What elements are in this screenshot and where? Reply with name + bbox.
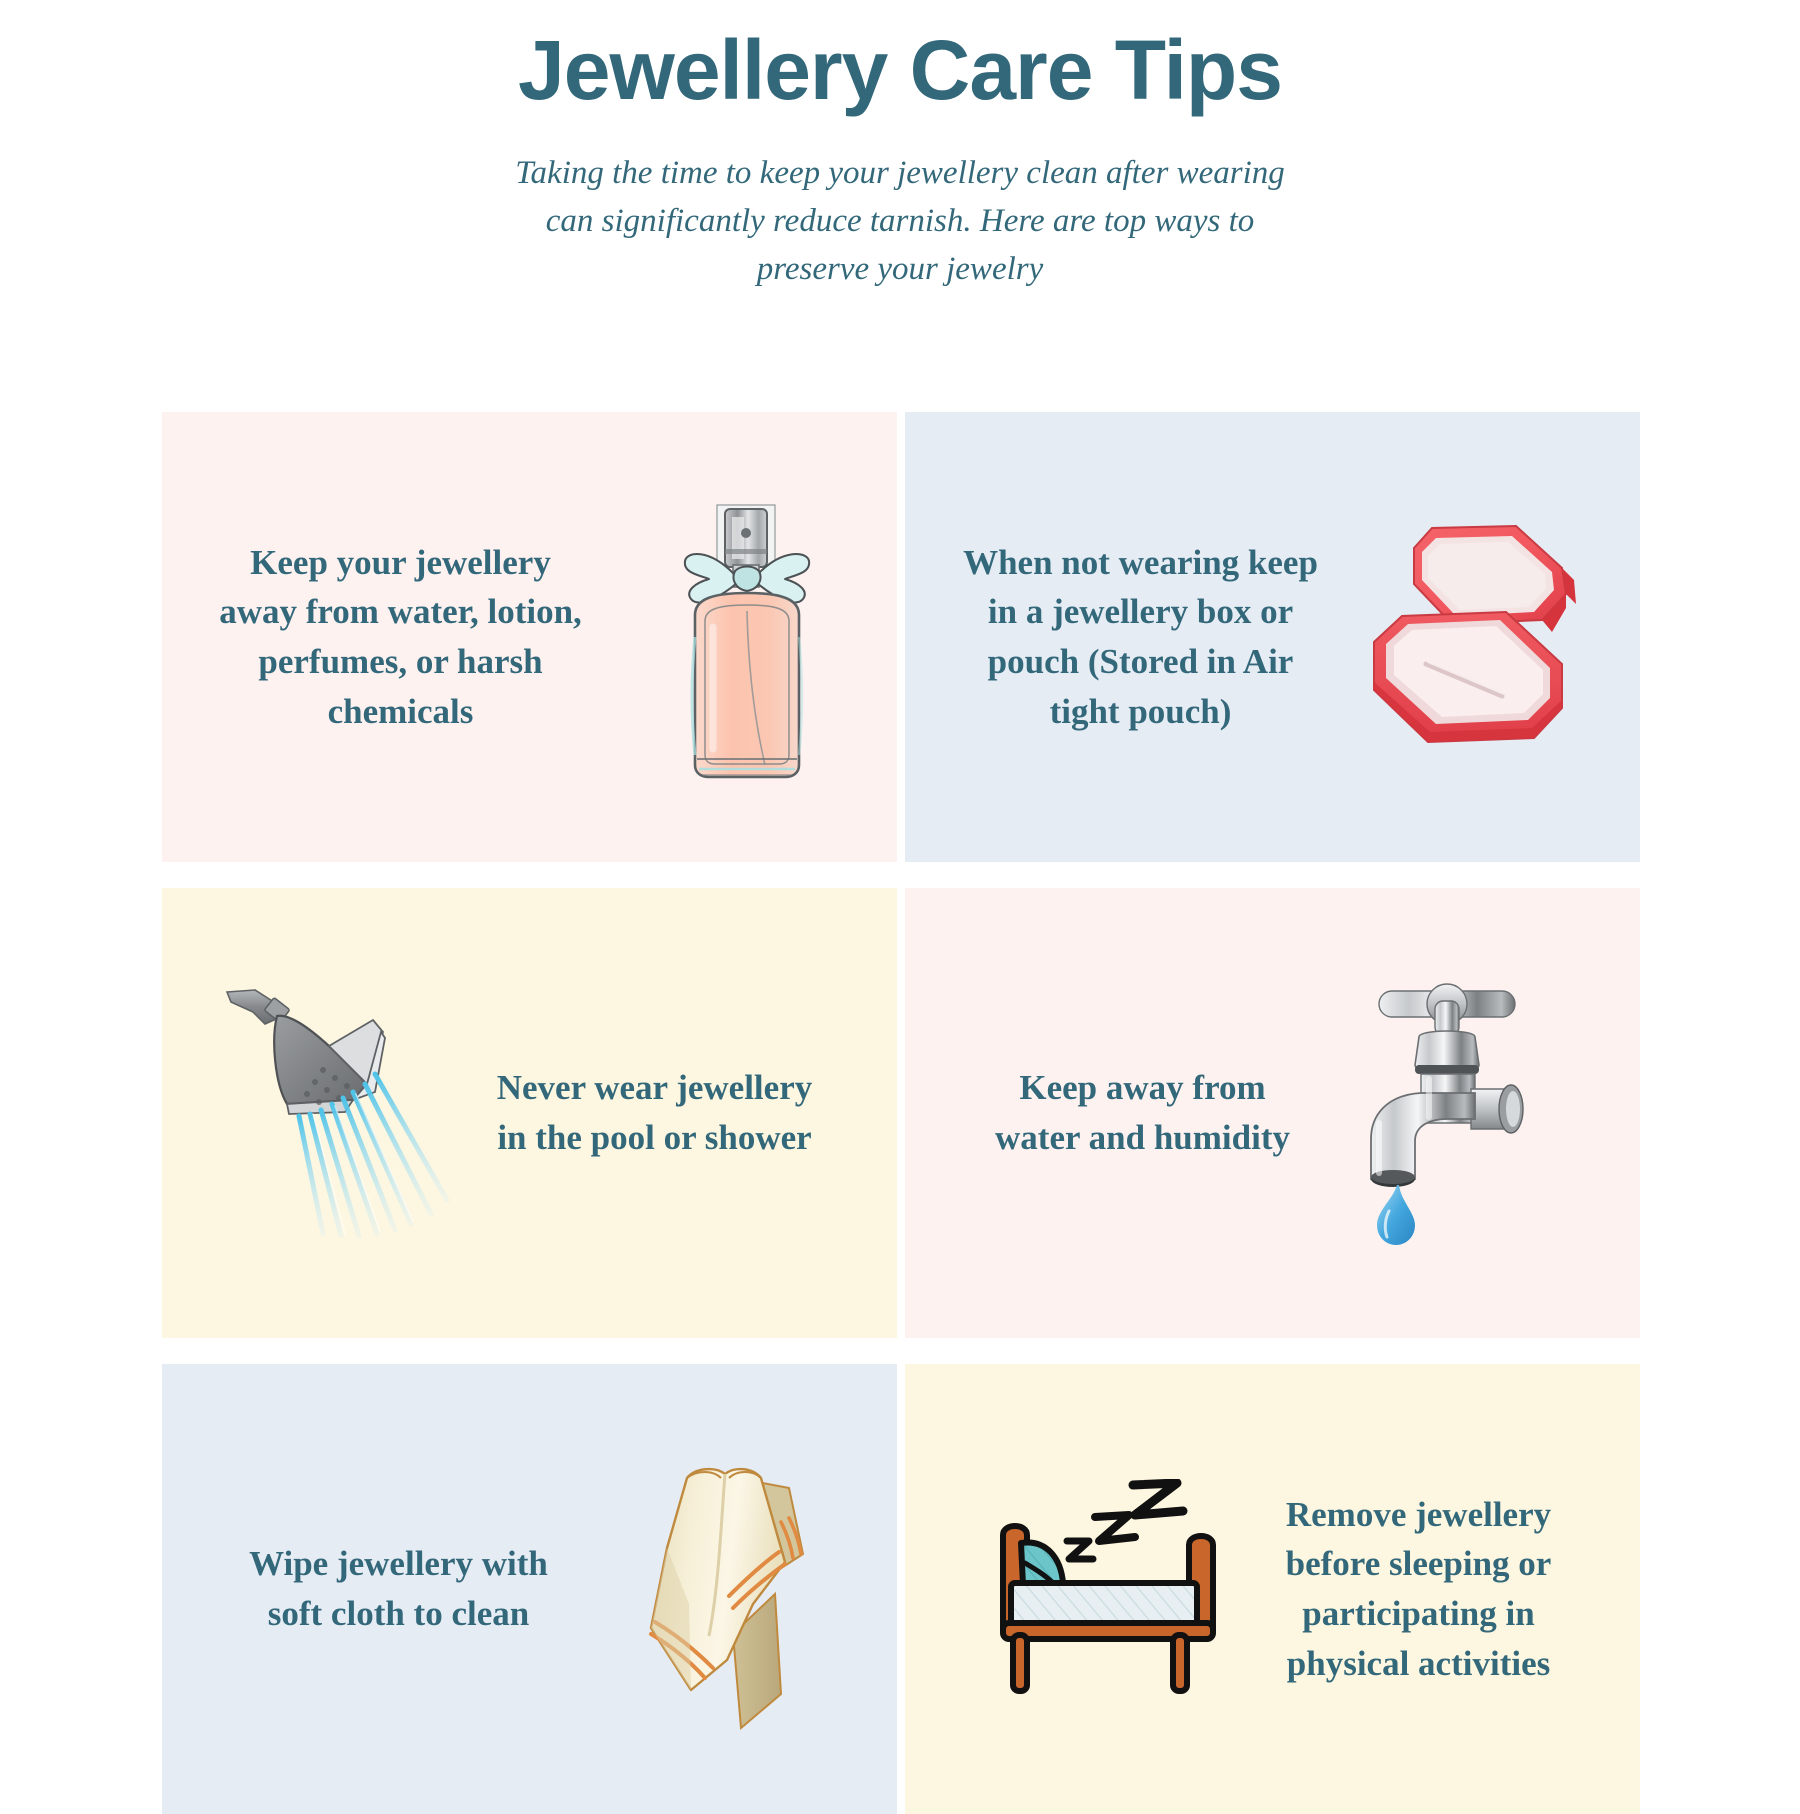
tip-card-wipe-with-soft-cloth: Wipe jewellery with soft cloth to clean <box>162 1364 897 1814</box>
tip-card-remove-before-sleeping: Remove jewellery before sleeping or part… <box>905 1364 1640 1814</box>
perfume-bottle-illustration <box>617 487 867 787</box>
shower-head-illustration <box>215 988 465 1238</box>
tip-card-never-wear-pool-shower: Never wear jewellery in the pool or show… <box>162 888 897 1338</box>
tip-text: Never wear jewellery in the pool or show… <box>485 1063 825 1162</box>
tip-text: Wipe jewellery with soft cloth to clean <box>234 1539 564 1638</box>
tip-text: When not wearing keep in a jewellery box… <box>951 538 1331 737</box>
infographic-page: Jewellery Care Tips Taking the time to k… <box>0 0 1800 1800</box>
page-title: Jewellery Care Tips <box>0 26 1800 114</box>
header: Jewellery Care Tips Taking the time to k… <box>0 0 1800 294</box>
tip-text: Remove jewellery before sleeping or part… <box>1269 1490 1569 1689</box>
tip-text: Keep your jewellery away from water, lot… <box>211 538 591 737</box>
ring-box-illustration <box>1361 512 1611 762</box>
tip-card-store-in-box: When not wearing keep in a jewellery box… <box>905 412 1640 862</box>
bed-sleeping-illustration <box>983 1479 1233 1699</box>
tip-card-keep-away-chemicals: Keep your jewellery away from water, lot… <box>162 412 897 862</box>
tip-card-keep-away-water-humidity: Keep away from water and humidity <box>905 888 1640 1338</box>
tips-grid: Keep your jewellery away from water, lot… <box>162 412 1640 1814</box>
page-subtitle: Taking the time to keep your jewellery c… <box>505 150 1295 294</box>
cloth-illustration <box>604 1444 854 1734</box>
tip-text: Keep away from water and humidity <box>983 1063 1303 1162</box>
faucet-illustration <box>1343 973 1593 1253</box>
